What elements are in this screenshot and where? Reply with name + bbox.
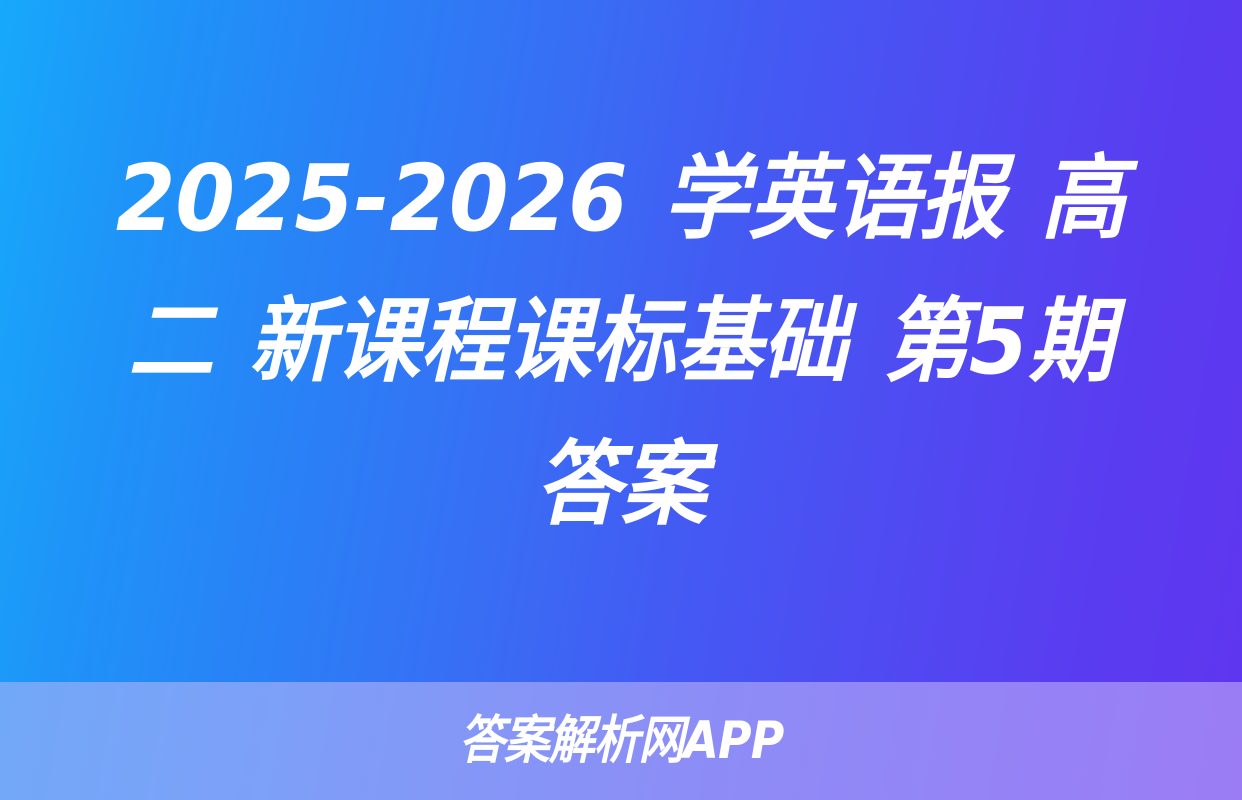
footer-brand-label: 答案解析网APP	[459, 715, 783, 767]
answer-poster: 2025-2026 学英语报 高二 新课程课标基础 第5期答案 答案解析网APP	[0, 0, 1242, 800]
title-block: 2025-2026 学英语报 高二 新课程课标基础 第5期答案	[0, 0, 1242, 682]
page-title: 2025-2026 学英语报 高二 新课程课标基础 第5期答案	[110, 127, 1133, 556]
footer-brand-band: 答案解析网APP	[0, 682, 1242, 800]
